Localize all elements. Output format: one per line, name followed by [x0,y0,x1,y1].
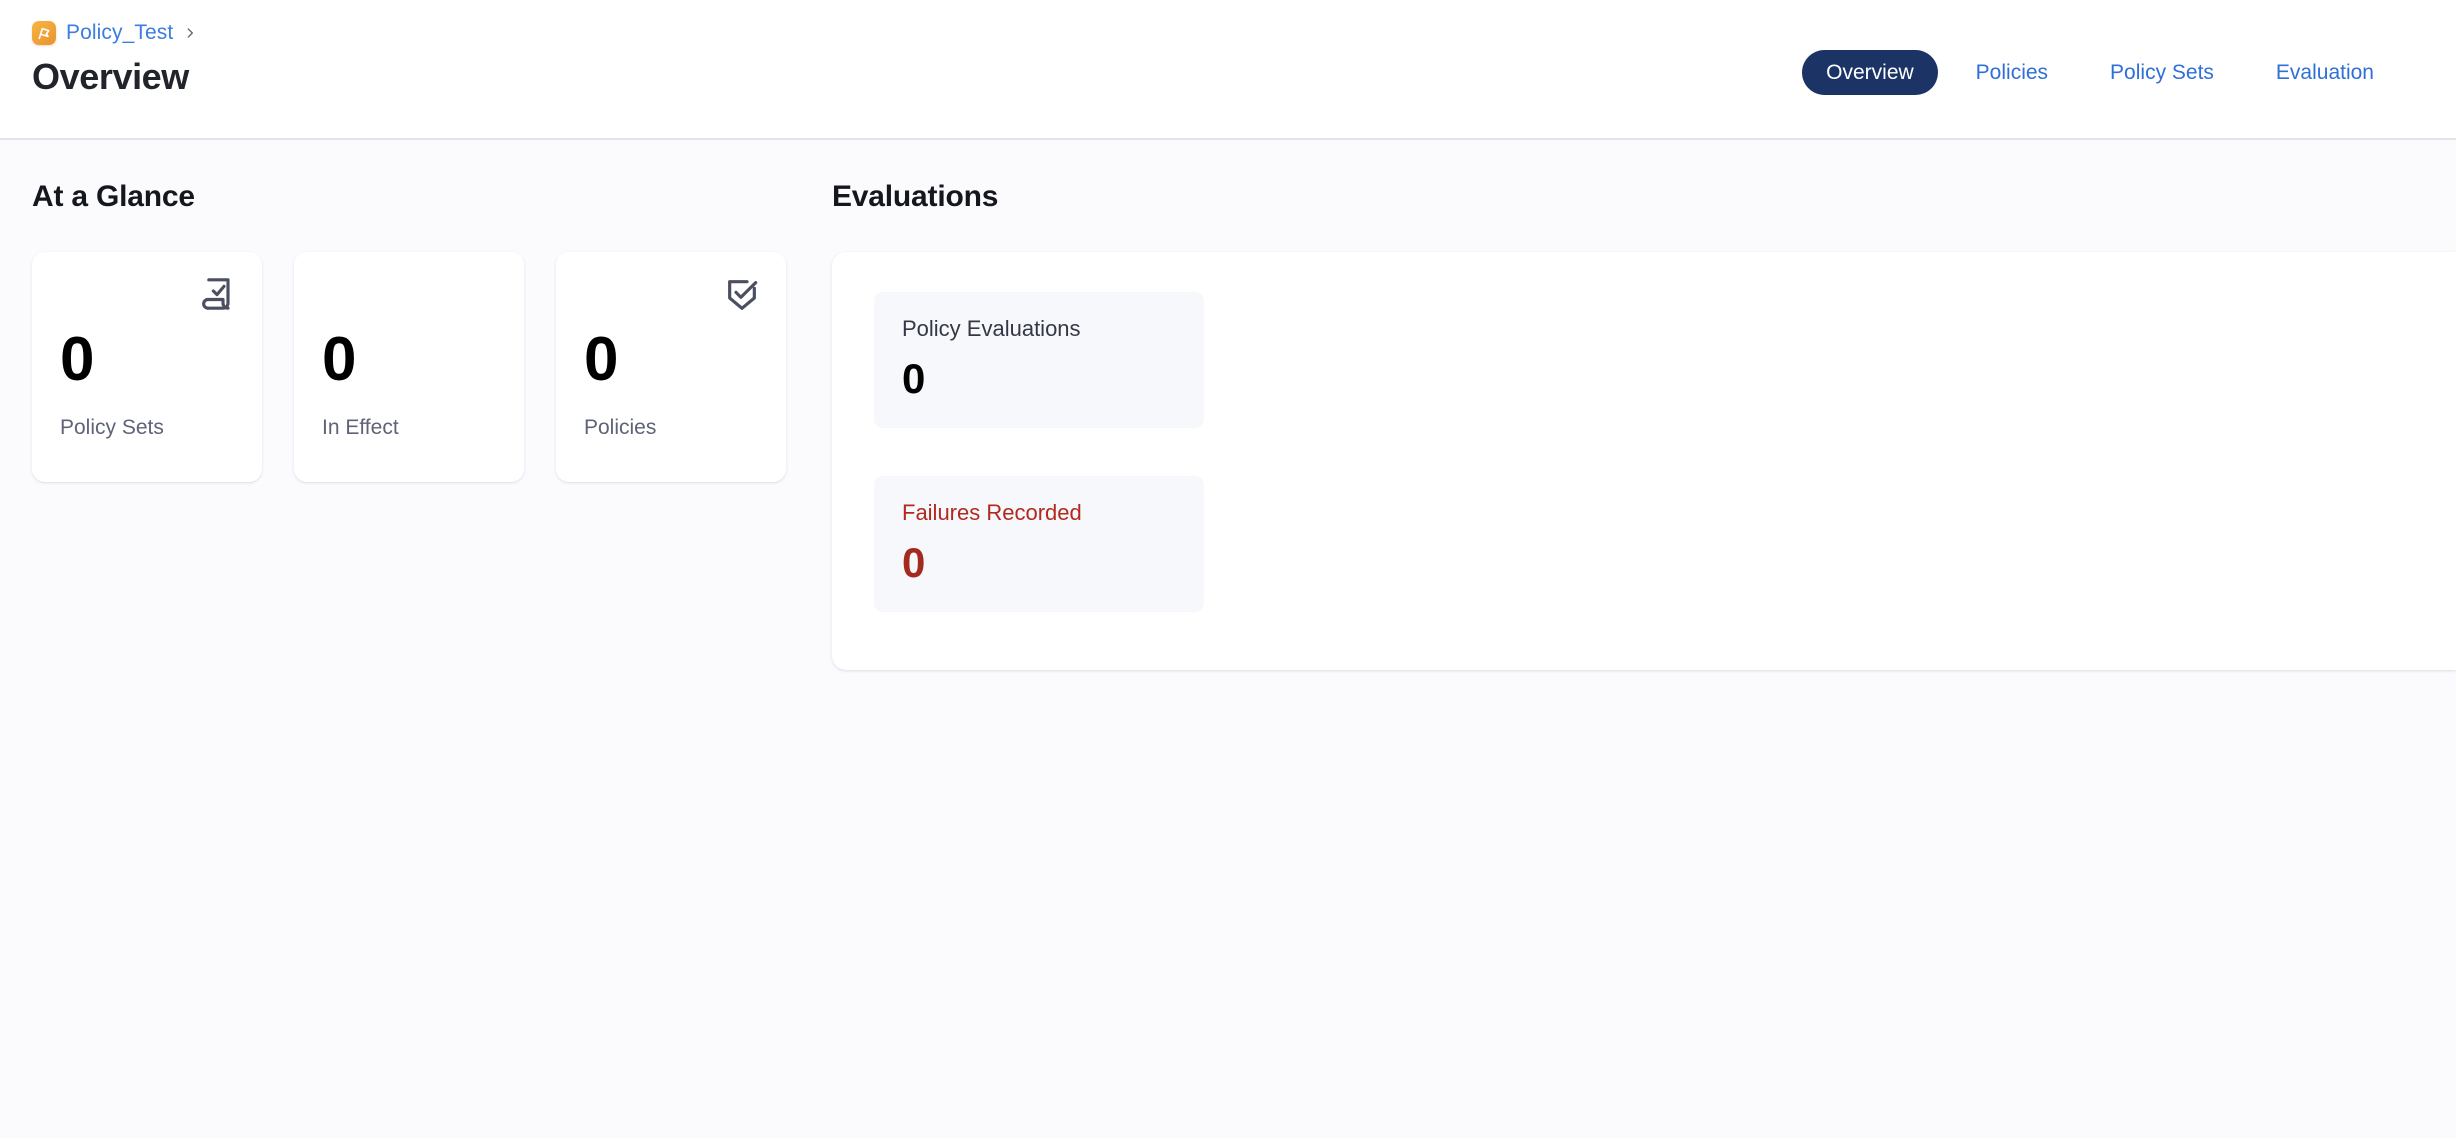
stat-value: 0 [322,329,496,391]
stat-card-policies[interactable]: 0 Policies [556,252,786,482]
at-a-glance-section: At a Glance 0 Policy Sets 0 In Effect [0,140,832,482]
eval-tile-value: 0 [902,358,1176,400]
breadcrumb: Policy_Test [32,18,197,48]
page-title: Overview [32,56,197,97]
evaluations-panel: Policy Evaluations 0 Failures Recorded 0 [832,252,2456,670]
stat-card-list: 0 Policy Sets 0 In Effect 0 Policies [32,252,832,482]
evaluations-title: Evaluations [832,180,2456,214]
tab-policy-sets[interactable]: Policy Sets [2086,50,2238,95]
breadcrumb-workspace-link[interactable]: Policy_Test [66,21,173,45]
eval-tile-policy-evaluations[interactable]: Policy Evaluations 0 [874,292,1204,428]
eval-tile-label: Failures Recorded [902,502,1176,524]
stat-label: Policies [584,417,758,456]
stat-value: 0 [584,329,758,391]
policy-flag-icon [32,21,56,45]
evaluations-section: Evaluations Policy Evaluations 0 Failure… [832,140,2456,670]
eval-tile-label: Policy Evaluations [902,318,1176,340]
tab-overview[interactable]: Overview [1802,50,1938,95]
eval-tile-value: 0 [902,542,1176,584]
main-content: At a Glance 0 Policy Sets 0 In Effect [0,140,2456,1138]
stat-value: 0 [60,329,234,391]
at-a-glance-title: At a Glance [32,180,832,214]
stat-label: Policy Sets [60,417,234,456]
app-header: Policy_Test Overview Overview Policies P… [0,0,2456,140]
stat-card-policy-sets[interactable]: 0 Policy Sets [32,252,262,482]
tab-policies[interactable]: Policies [1952,50,2072,95]
document-check-icon [198,274,238,314]
shield-check-icon [722,274,762,314]
primary-nav: Overview Policies Policy Sets Evaluation [1802,50,2418,95]
stat-label: In Effect [322,417,496,456]
stat-card-in-effect[interactable]: 0 In Effect [294,252,524,482]
tab-evaluation[interactable]: Evaluation [2252,50,2398,95]
header-left: Policy_Test Overview [32,18,197,97]
chevron-right-icon [183,26,197,40]
eval-tile-failures-recorded[interactable]: Failures Recorded 0 [874,476,1204,612]
